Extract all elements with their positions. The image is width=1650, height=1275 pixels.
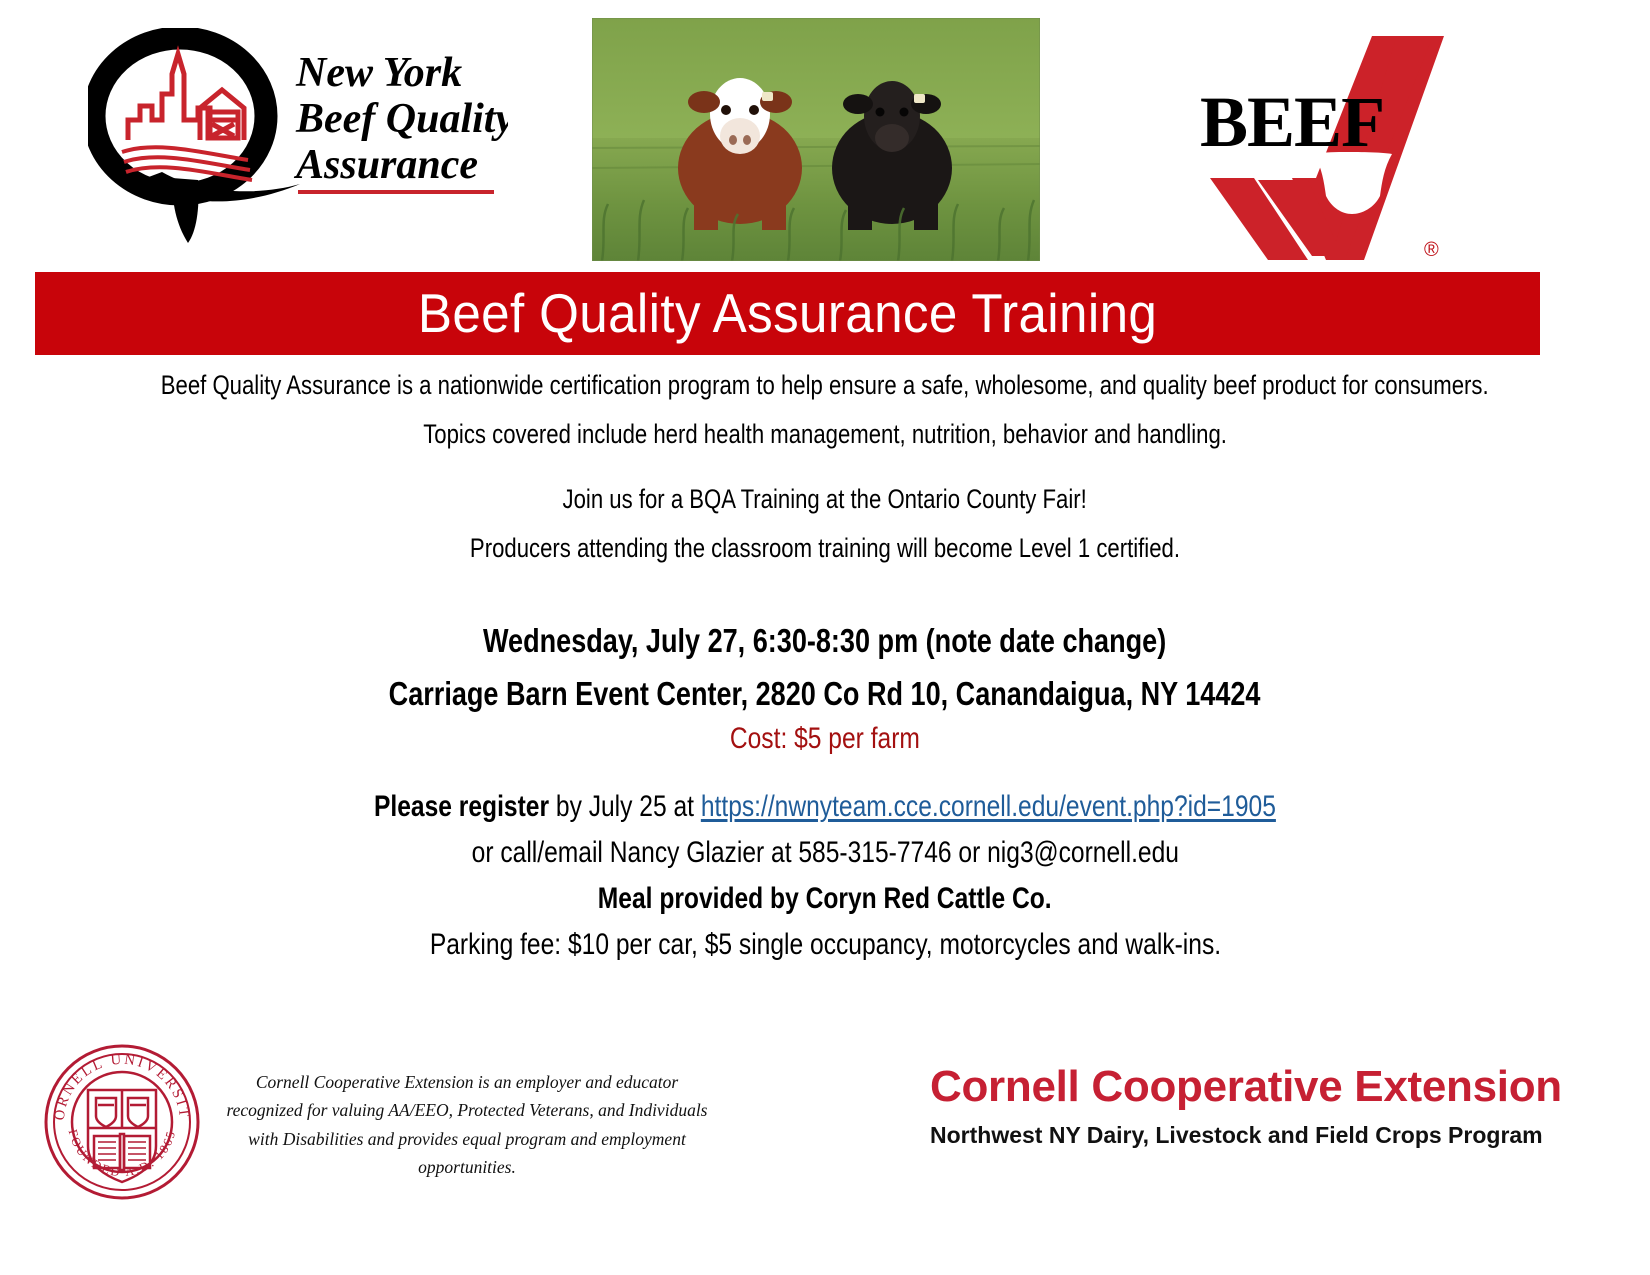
event-venue-line: Carriage Barn Event Center, 2820 Co Rd 1… <box>0 677 1650 710</box>
new-york-beef-quality-assurance-logo: New York Beef Quality Assurance <box>88 28 508 253</box>
meal-line: Meal provided by Coryn Red Cattle Co. <box>0 884 1650 914</box>
skyline-barn-icon <box>128 54 244 140</box>
nybqa-line-1: New York <box>295 50 462 96</box>
beef-wordmark: BEEF <box>1200 82 1384 162</box>
cornell-university-seal-icon: CORNELL UNIVERSITY FOUNDED A.D. 1865 <box>42 1042 202 1202</box>
page-title: Beef Quality Assurance Training <box>418 286 1157 341</box>
nybqa-line-3: Assurance <box>293 142 478 188</box>
cce-title: Cornell Cooperative Extension <box>930 1064 1530 1110</box>
registration-link[interactable]: https://nwnyteam.cce.cornell.edu/event.p… <box>701 790 1276 823</box>
contact-line: or call/email Nancy Glazier at 585-315-7… <box>0 838 1650 868</box>
meal-text: Meal provided by Coryn Red Cattle Co. <box>598 884 1052 914</box>
level-line-text: Producers attending the classroom traini… <box>470 535 1180 562</box>
body-copy: Beef Quality Assurance is a nationwide c… <box>0 372 1650 960</box>
event-date-text: Wednesday, July 27, 6:30-8:30 pm (note d… <box>483 624 1166 657</box>
intro-line-2: Topics covered include herd health manag… <box>0 421 1650 448</box>
parking-line: Parking fee: $10 per car, $5 single occu… <box>0 930 1650 960</box>
cornell-cooperative-extension-wordmark: Cornell Cooperative Extension Northwest … <box>930 1064 1530 1149</box>
intro-line-2-text: Topics covered include herd health manag… <box>423 421 1227 448</box>
register-mid-label: by July 25 at <box>549 790 701 823</box>
registration-inner: Please register by July 25 at https://nw… <box>374 792 1276 822</box>
nybqa-underline <box>298 190 494 194</box>
cce-subtitle: Northwest NY Dairy, Livestock and Field … <box>930 1122 1530 1149</box>
header: New York Beef Quality Assurance <box>0 0 1650 268</box>
level-line: Producers attending the classroom traini… <box>0 535 1650 562</box>
register-cta-label: Please register <box>374 790 549 823</box>
contact-text: or call/email Nancy Glazier at 585-315-7… <box>471 838 1178 868</box>
eeo-disclaimer: Cornell Cooperative Extension is an empl… <box>222 1068 712 1181</box>
event-cost-text: Cost: $5 per farm <box>730 724 920 754</box>
join-line: Join us for a BQA Training at the Ontari… <box>0 486 1650 513</box>
registered-trademark-icon: ® <box>1424 239 1439 260</box>
seal-bottom-text: FOUNDED A.D. 1865 <box>66 1128 179 1179</box>
title-banner: Beef Quality Assurance Training <box>35 272 1540 355</box>
parking-text: Parking fee: $10 per car, $5 single occu… <box>429 930 1220 960</box>
intro-line-1: Beef Quality Assurance is a nationwide c… <box>0 372 1650 399</box>
event-venue-text: Carriage Barn Event Center, 2820 Co Rd 1… <box>389 677 1261 710</box>
beef-checkoff-logo: BEEF ® <box>1196 28 1456 260</box>
join-line-text: Join us for a BQA Training at the Ontari… <box>563 486 1087 513</box>
footer: CORNELL UNIVERSITY FOUNDED A.D. 1865 <box>0 1028 1650 1198</box>
cattle-photo <box>592 18 1040 261</box>
nybqa-line-2: Beef Quality <box>295 96 508 142</box>
registration-line: Please register by July 25 at https://nw… <box>0 792 1650 822</box>
intro-line-1-text: Beef Quality Assurance is a nationwide c… <box>161 372 1489 399</box>
black-cow-illustration <box>832 81 952 230</box>
event-date-line: Wednesday, July 27, 6:30-8:30 pm (note d… <box>0 624 1650 657</box>
event-cost-line: Cost: $5 per farm <box>0 724 1650 754</box>
red-cow-illustration <box>678 78 802 230</box>
